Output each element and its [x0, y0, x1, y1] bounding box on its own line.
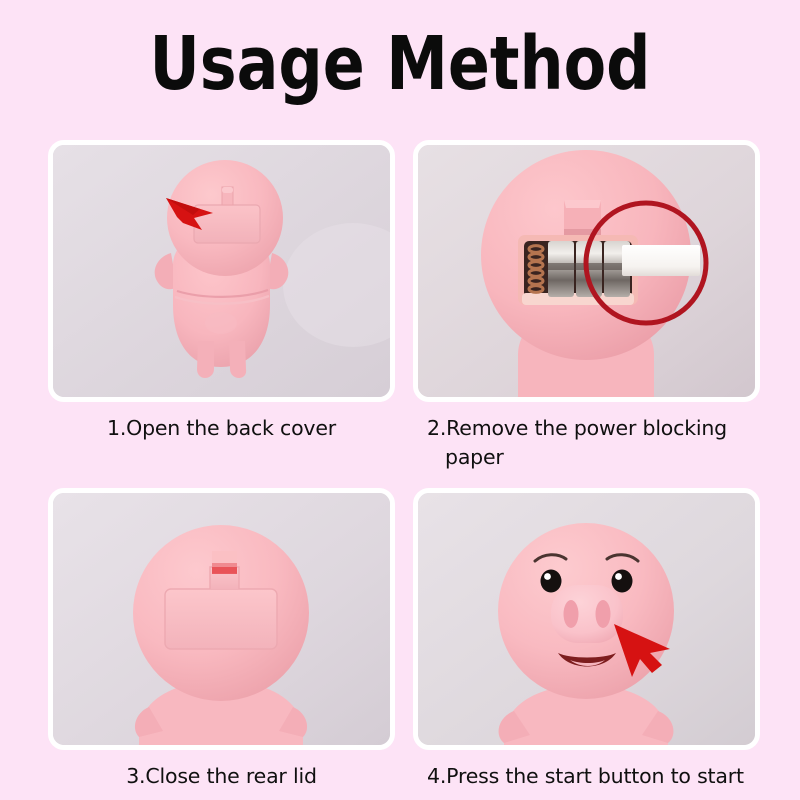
step-4-caption: 4.Press the start button to start: [413, 762, 760, 791]
steps-grid: 1.Open the back cover: [48, 140, 760, 791]
step-4: 4.Press the start button to start: [413, 488, 760, 791]
pig-back-cover-open-illustration: [53, 145, 390, 397]
pig-back-cover-closed-illustration: [53, 493, 390, 745]
step-1-panel: [48, 140, 395, 402]
usage-method-infographic: Usage Method: [0, 0, 800, 800]
step-2-caption-text-line2: paper: [427, 443, 760, 472]
step-1-caption-text: 1.Open the back cover: [107, 416, 336, 440]
pig-face-start-button-illustration: [418, 493, 755, 745]
step-2: 2.Remove the power blocking paper: [413, 140, 760, 472]
step-3: 3.Close the rear lid: [48, 488, 395, 791]
steps-row-2: 3.Close the rear lid: [48, 488, 760, 791]
step-4-caption-text: 4.Press the start button to start: [427, 764, 744, 788]
step-2-caption: 2.Remove the power blocking paper: [413, 414, 760, 472]
page-title: Usage Method: [28, 22, 772, 106]
step-2-panel: [413, 140, 760, 402]
battery-compartment-illustration: [418, 145, 755, 397]
step-4-panel: [413, 488, 760, 750]
step-1: 1.Open the back cover: [48, 140, 395, 472]
step-2-caption-text: 2.Remove the power blocking: [427, 416, 727, 440]
step-1-caption: 1.Open the back cover: [48, 414, 395, 443]
step-3-panel: [48, 488, 395, 750]
step-3-caption: 3.Close the rear lid: [48, 762, 395, 791]
steps-row-1: 1.Open the back cover: [48, 140, 760, 472]
step-3-caption-text: 3.Close the rear lid: [126, 764, 317, 788]
